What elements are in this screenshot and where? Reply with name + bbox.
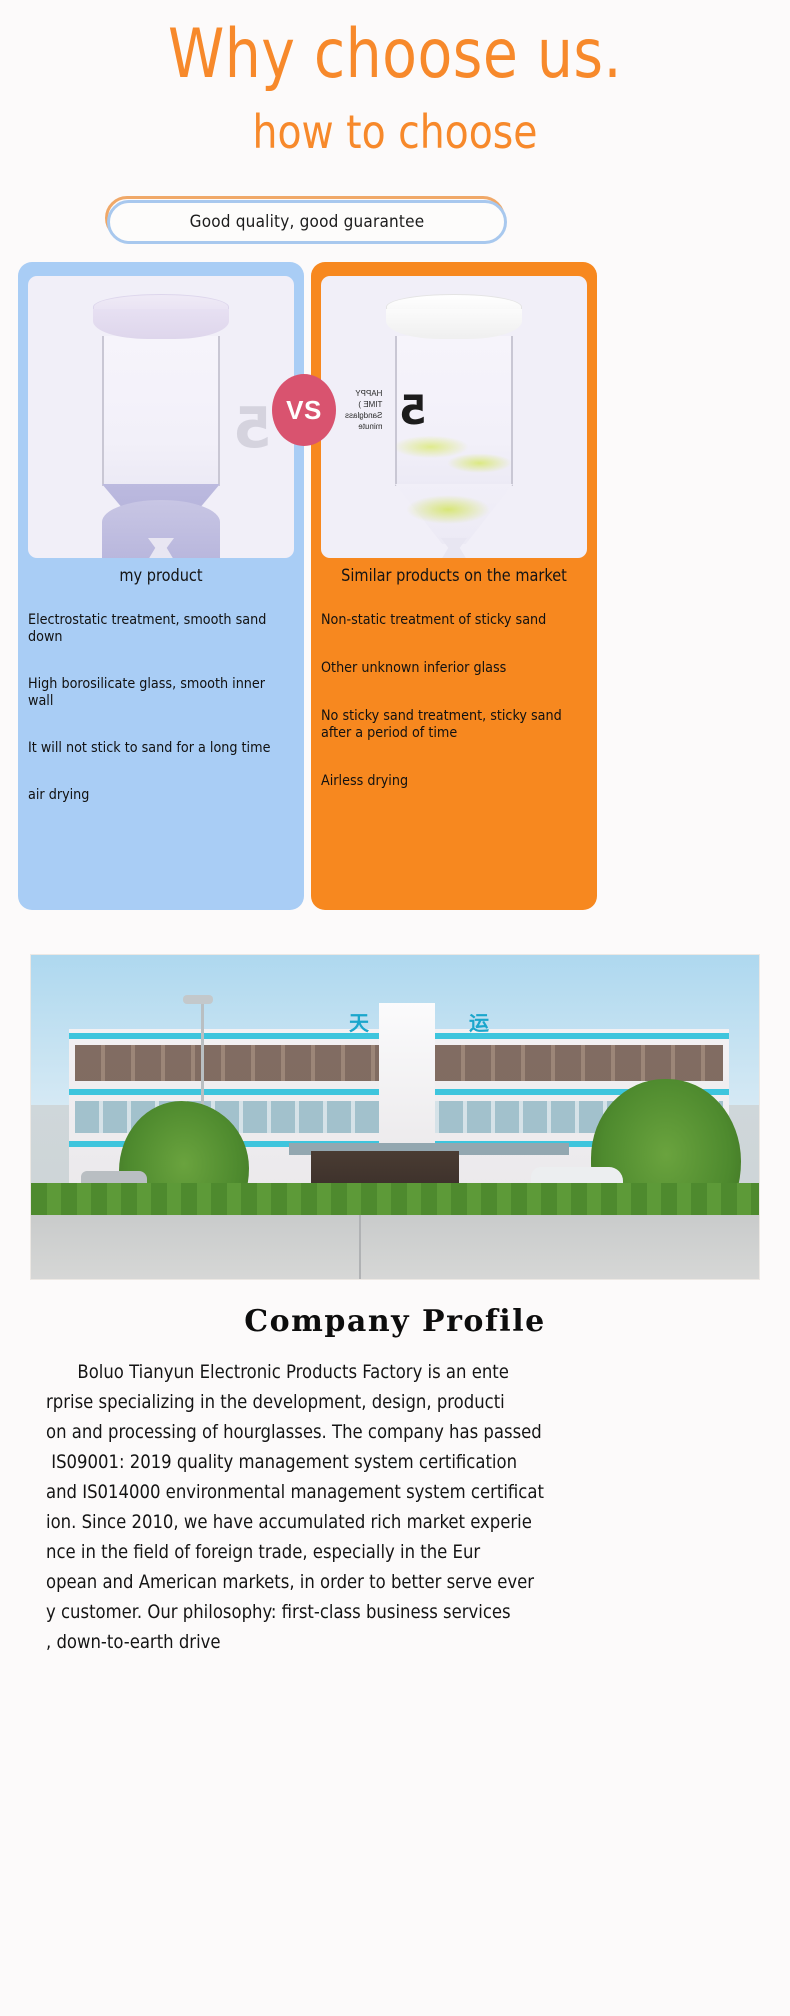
feature-item: air drying [28, 787, 291, 804]
page-title: Why choose us. [28, 14, 763, 96]
hourglass-number-mine: 5 [233, 396, 272, 461]
vs-badge: VS [272, 374, 336, 446]
promo-page: Why choose us. how to choose Good qualit… [0, 0, 790, 2016]
company-profile-title: Company Profile [0, 1304, 790, 1339]
hourglass-collar [93, 309, 229, 339]
hero-section: Why choose us. how to choose Good qualit… [0, 0, 790, 300]
feature-item: It will not stick to sand for a long tim… [28, 740, 291, 757]
company-section: 天 运 Company Profile Boluo Tianyun Electr… [0, 930, 790, 2016]
feature-item: Non-static treatment of sticky sand [321, 612, 584, 629]
quality-banner: Good quality, good guarantee [107, 200, 507, 244]
feature-item: Airless drying [321, 773, 584, 790]
print-line: minute [345, 421, 382, 432]
hourglass-sticky-sand [396, 426, 512, 542]
card-caption-mine: my product [25, 566, 297, 586]
print-line: Sandglass [345, 410, 382, 421]
comparison-section: 5 my product Electrostatic treatment, sm… [0, 262, 790, 922]
comparison-card-mine: 5 my product Electrostatic treatment, sm… [18, 262, 304, 910]
hourglass-number-market: 5 [399, 388, 427, 434]
hourglass-print-text: HAPPY TIME ) Sandglass minute [345, 388, 382, 432]
building-sign-left: 天 [349, 1007, 369, 1036]
hedge-row [31, 1183, 759, 1217]
hourglass-illustration-mine: 5 [28, 276, 294, 558]
feature-item: Electrostatic treatment, smooth sand dow… [28, 612, 291, 646]
factory-building-photo: 天 运 [30, 954, 760, 1280]
ground-pavement [31, 1215, 759, 1279]
hourglass-illustration-market: HAPPY TIME ) Sandglass minute 5 [321, 276, 587, 558]
card-caption-market: Similar products on the market [318, 566, 590, 586]
hourglass-body [102, 336, 220, 486]
print-line: TIME ) [345, 399, 382, 410]
feature-list-mine: Electrostatic treatment, smooth sand dow… [18, 612, 304, 834]
feature-item: No sticky sand treatment, sticky sand af… [321, 708, 584, 742]
feature-item: Other unknown inferior glass [321, 660, 584, 677]
product-photo-market: HAPPY TIME ) Sandglass minute 5 [321, 276, 587, 558]
hourglass-neck [441, 538, 467, 558]
building-sign-right: 运 [469, 1007, 489, 1036]
product-photo-mine: 5 [28, 276, 294, 558]
street-lamp-head [183, 995, 213, 1004]
page-subtitle: how to choose [20, 104, 771, 160]
quality-banner-label: Good quality, good guarantee [190, 212, 425, 232]
feature-list-market: Non-static treatment of sticky sand Othe… [311, 612, 597, 821]
print-line: HAPPY [345, 388, 382, 399]
comparison-card-market: HAPPY TIME ) Sandglass minute 5 Similar … [311, 262, 597, 910]
company-profile-body: Boluo Tianyun Electronic Products Factor… [46, 1358, 736, 1658]
hourglass-collar [386, 309, 522, 339]
feature-item: High borosilicate glass, smooth inner wa… [28, 676, 291, 710]
building-tower [379, 1003, 435, 1153]
